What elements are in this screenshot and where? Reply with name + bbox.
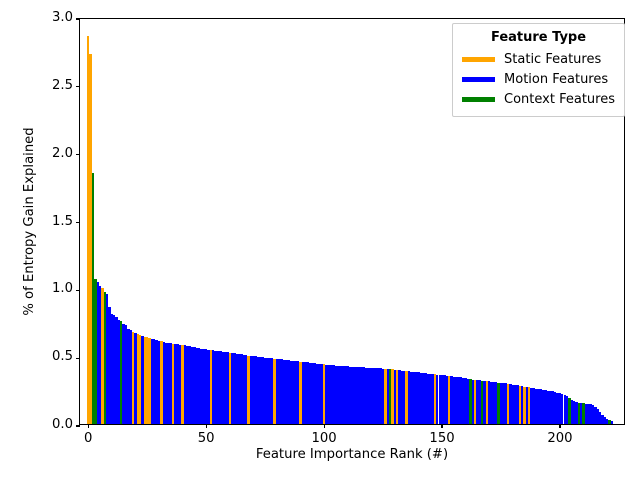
y-axis-label: % of Entropy Gain Explained — [22, 18, 42, 425]
y-tick-label: 0.0 — [52, 417, 73, 432]
x-tick-mark — [441, 424, 442, 428]
x-tick-label: 50 — [198, 431, 215, 446]
legend-label: Static Features — [504, 52, 601, 67]
y-tick-mark — [76, 86, 80, 87]
x-tick-mark — [559, 424, 560, 428]
legend-swatch — [462, 57, 495, 62]
legend-swatch — [462, 77, 495, 82]
x-tick-mark — [206, 424, 207, 428]
y-tick-label: 2.0 — [52, 146, 73, 161]
x-tick-label: 100 — [312, 431, 337, 446]
legend: Feature Type Static FeaturesMotion Featu… — [452, 23, 625, 117]
y-tick-label: 1.5 — [52, 214, 73, 229]
legend-title: Feature Type — [462, 30, 615, 45]
x-tick-mark — [88, 424, 89, 428]
x-axis-label: Feature Importance Rank (#) — [79, 447, 625, 462]
y-tick-label: 2.5 — [52, 78, 73, 93]
y-tick-mark — [76, 154, 80, 155]
y-tick-mark — [76, 425, 80, 426]
y-tick-label: 3.0 — [52, 10, 73, 25]
legend-swatch — [462, 97, 495, 102]
y-tick-mark — [76, 358, 80, 359]
x-tick-label: 150 — [429, 431, 454, 446]
legend-label: Motion Features — [504, 72, 608, 87]
x-tick-label: 200 — [547, 431, 572, 446]
y-tick-label: 0.5 — [52, 349, 73, 364]
bar — [611, 421, 613, 424]
legend-entry: Context Features — [462, 89, 615, 109]
legend-label: Context Features — [504, 92, 615, 107]
legend-entry: Static Features — [462, 49, 615, 69]
bar-chart-figure: 0.00.51.01.52.02.53.0 050100150200 Featu… — [0, 0, 640, 480]
x-tick-label: 0 — [84, 431, 92, 446]
x-tick-mark — [324, 424, 325, 428]
y-tick-mark — [76, 18, 80, 19]
y-tick-label: 1.0 — [52, 281, 73, 296]
legend-entries: Static FeaturesMotion FeaturesContext Fe… — [462, 49, 615, 109]
legend-entry: Motion Features — [462, 69, 615, 89]
y-tick-mark — [76, 290, 80, 291]
y-tick-mark — [76, 222, 80, 223]
